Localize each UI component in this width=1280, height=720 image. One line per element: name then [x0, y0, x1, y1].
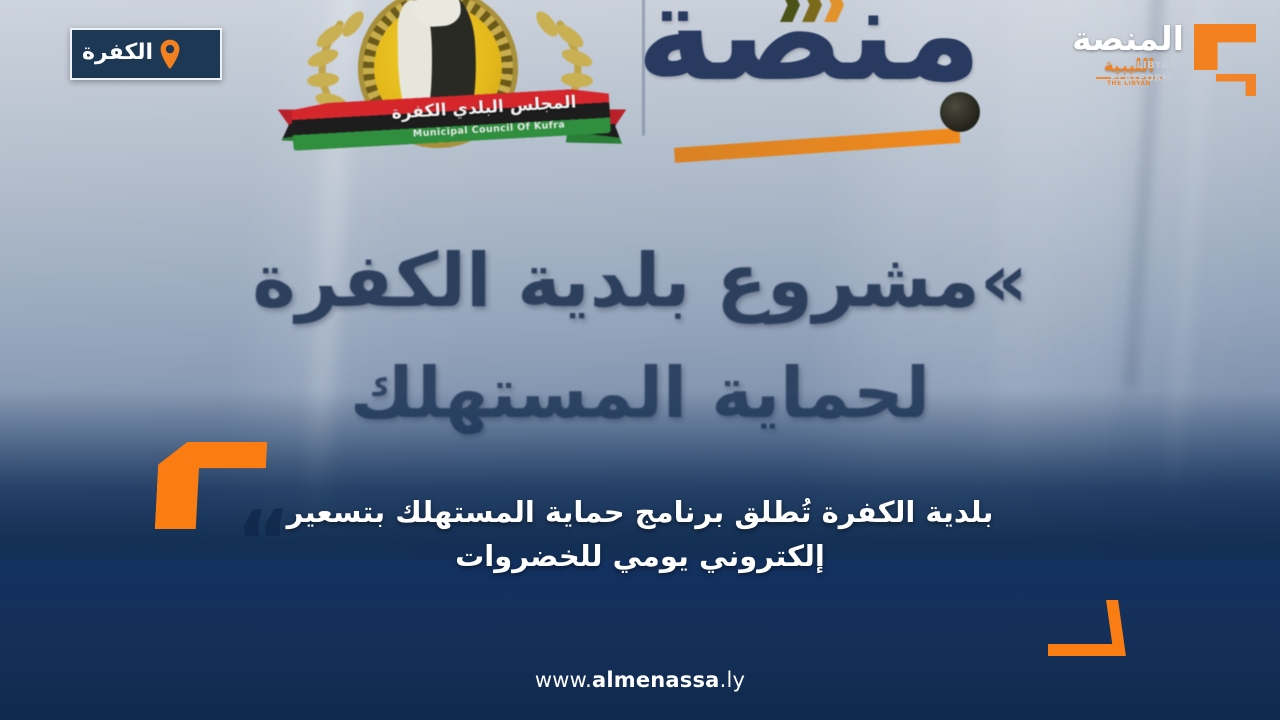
location-badge[interactable]: الكفرة: [70, 28, 222, 80]
news-card: المجلس البلدي الكفرة Municipal Council O…: [0, 0, 1280, 720]
almenassa-logo-mark-icon: [1186, 20, 1260, 98]
brand-name-english-line2: PLATFORM: [1110, 73, 1184, 86]
slide-logo-row: المجلس البلدي الكفرة Municipal Council O…: [276, 0, 1016, 181]
map-pin-icon: [159, 39, 181, 69]
website-url-prefix: www.: [535, 668, 592, 692]
website-url-name: almenassa: [592, 668, 720, 692]
orange-corner-bracket-bottom-right: [1048, 600, 1122, 656]
headline-line-2: إلكتروني يومي للخضروات: [150, 534, 1130, 578]
swoosh-ball-icon: [940, 92, 980, 132]
chevrons-icon: [780, 0, 842, 22]
headline-line-1: بلدية الكفرة تُطلق برنامج حماية المستهلك…: [150, 490, 1130, 534]
website-url-tld: .ly: [720, 668, 746, 692]
headline: بلدية الكفرة تُطلق برنامج حماية المستهلك…: [150, 490, 1130, 578]
emblem-ribbon: المجلس البلدي الكفرة Municipal Council O…: [286, 82, 616, 170]
slide-title-line-1: »مشروع بلدية الكفرة: [0, 244, 1280, 318]
location-badge-label: الكفرة: [82, 42, 153, 67]
brand-logo[interactable]: المنصة الليبية THE LIBYAN THE LIBYAN PLA…: [1046, 16, 1266, 102]
brand-name-english: THE LIBYAN PLATFORM: [1110, 60, 1184, 86]
brand-name-arabic: المنصة: [1056, 22, 1184, 55]
website-url[interactable]: www.almenassa.ly: [0, 668, 1280, 692]
kufra-municipal-council-emblem: المجلس البلدي الكفرة Municipal Council O…: [286, 0, 616, 171]
brand-name-english-line1: THE LIBYAN: [1110, 60, 1184, 73]
project-wordmark-logo: منصة: [666, 0, 986, 170]
